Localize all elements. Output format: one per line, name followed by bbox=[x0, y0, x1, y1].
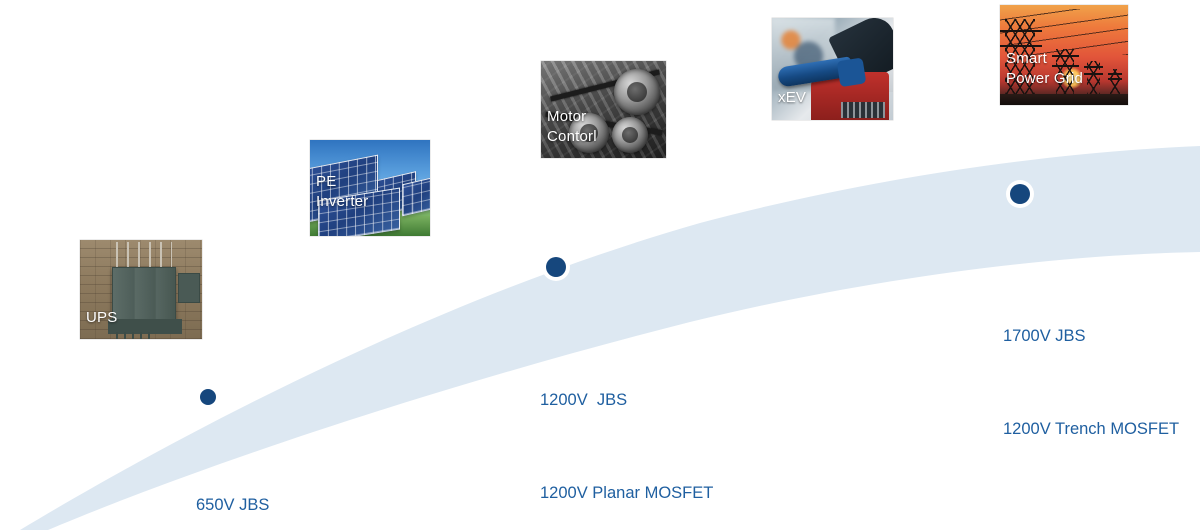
solar-panels-photo bbox=[310, 140, 430, 236]
milestone-label-650v: 650V JBS 650V MOSFET bbox=[196, 428, 308, 530]
transmission-tower-1 bbox=[1005, 19, 1035, 95]
milestone-1700v-line-1: 1700V JBS bbox=[1003, 321, 1179, 352]
ups-cabinet-side bbox=[178, 273, 200, 303]
xev-front-grille bbox=[841, 102, 885, 118]
ups-photo bbox=[80, 240, 202, 339]
milestone-label-1200v: 1200V JBS 1200V Planar MOSFET bbox=[540, 323, 713, 530]
transmission-tower-3 bbox=[1087, 61, 1100, 95]
engine-pulley-small bbox=[612, 117, 648, 153]
milestone-label-1700v: 1700V JBS 1200V Trench MOSFET bbox=[1003, 259, 1179, 507]
application-thumbnail-smart-power-grid[interactable]: Smart Power Grid bbox=[1000, 5, 1128, 105]
engine-alternator bbox=[569, 113, 609, 153]
application-thumbnail-ups[interactable]: UPS bbox=[80, 240, 202, 339]
ev-charging-photo bbox=[772, 18, 893, 120]
horizon-ground bbox=[1000, 94, 1128, 105]
ups-cabinet-main bbox=[112, 267, 176, 322]
technology-roadmap-figure: UPS PE Inverter Motor Contorl bbox=[0, 0, 1200, 530]
application-thumbnail-pe-inverter[interactable]: PE Inverter bbox=[310, 140, 430, 236]
transmission-tower-4 bbox=[1110, 69, 1120, 95]
engine-pulley-large bbox=[614, 69, 660, 115]
milestone-dot-1700v[interactable] bbox=[1010, 184, 1030, 204]
ups-lower-conduits bbox=[116, 332, 156, 339]
milestone-1200v-line-2: 1200V Planar MOSFET bbox=[540, 478, 713, 509]
transmission-tower-2 bbox=[1056, 49, 1074, 95]
milestone-1200v-line-1: 1200V JBS bbox=[540, 385, 713, 416]
ups-conduit-pipes bbox=[116, 242, 172, 268]
engine-belts-photo bbox=[541, 61, 666, 158]
application-thumbnail-motor-control[interactable]: Motor Contorl bbox=[541, 61, 666, 158]
milestone-dot-650v[interactable] bbox=[200, 389, 216, 405]
power-grid-sunset-photo bbox=[1000, 5, 1128, 105]
application-thumbnail-xev[interactable]: xEV bbox=[772, 18, 893, 120]
milestone-650v-line-1: 650V JBS bbox=[196, 490, 308, 521]
milestone-1700v-line-2: 1200V Trench MOSFET bbox=[1003, 414, 1179, 445]
milestone-dot-1200v[interactable] bbox=[546, 257, 566, 277]
